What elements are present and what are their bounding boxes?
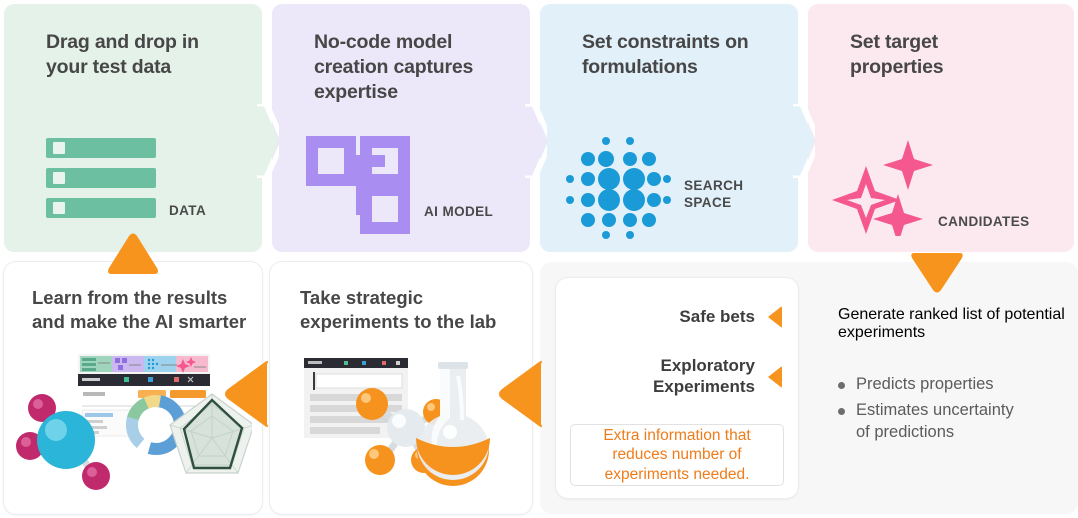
data-bars-icon [46,138,156,228]
panel-no-code-model[interactable]: No-code model creation captures expertis… [272,4,530,252]
icon-label-candidates: CANDIDATES [938,214,1030,231]
triangle-left-icon [768,306,782,328]
triangle-left-icon [222,358,272,430]
icon-label-search-space: SEARCH SPACE [684,178,743,212]
molecule-dashboard-charts-illustration [16,346,252,504]
rank-label: Safe bets [679,307,755,328]
chevron-connector-1 [253,104,279,178]
list-item-label: Estimates uncertainty of predictions [856,400,1014,444]
flask-molecules-illustration [300,350,506,502]
rank-label: Exploratory Experiments [653,356,755,397]
list-item: Predicts properties [838,374,1068,396]
generate-bullet-list: Predicts properties Estimates uncertaint… [838,374,1068,448]
search-space-dots-icon [564,132,672,240]
workflow-diagram: Drag and drop in your test data DATA No-… [0,0,1078,518]
chevron-connector-2 [521,104,547,178]
icon-label-ai-model: AI MODEL [424,204,493,221]
chevron-connector-3 [789,104,815,178]
panel-title: Set target properties [850,30,943,80]
triangle-left-icon [496,358,546,430]
ai-model-nodes-icon [304,134,412,234]
panel-title: Drag and drop in your test data [46,30,199,80]
panel-title: Learn from the results and make the AI s… [32,286,246,334]
bullet-dot-icon [838,408,845,415]
triangle-down-icon [908,250,966,294]
rank-row-safe-bets[interactable]: Safe bets [556,306,798,328]
triangle-left-icon [768,366,782,388]
panel-set-constraints[interactable]: Set constraints on formulations SEARCH S… [540,4,798,252]
panel-take-to-lab[interactable]: Take strategic experiments to the lab [270,262,532,514]
extra-information-note: Extra information that reduces number of… [570,424,784,486]
icon-label-data: DATA [169,203,206,220]
panel-drag-drop-data[interactable]: Drag and drop in your test data DATA [4,4,262,252]
sparkles-icon [828,132,940,236]
panel-ranked-output[interactable]: Safe bets Exploratory Experiments Extra … [556,278,798,498]
triangle-up-icon [105,232,161,276]
bullet-dot-icon [838,382,845,389]
list-item-label: Predicts properties [856,374,994,396]
list-item: Estimates uncertainty of predictions [838,400,1068,444]
panel-title: Set constraints on formulations [582,30,749,80]
panel-set-target-properties[interactable]: Set target properties CANDIDATES [808,4,1074,252]
rank-row-exploratory[interactable]: Exploratory Experiments [556,356,798,397]
panel-title: Generate ranked list of potential experi… [838,306,1068,342]
panel-title: Take strategic experiments to the lab [300,286,496,334]
panel-generate-ranked-list: Generate ranked list of potential experi… [838,278,1068,498]
panel-title: No-code model creation captures expertis… [314,30,473,105]
